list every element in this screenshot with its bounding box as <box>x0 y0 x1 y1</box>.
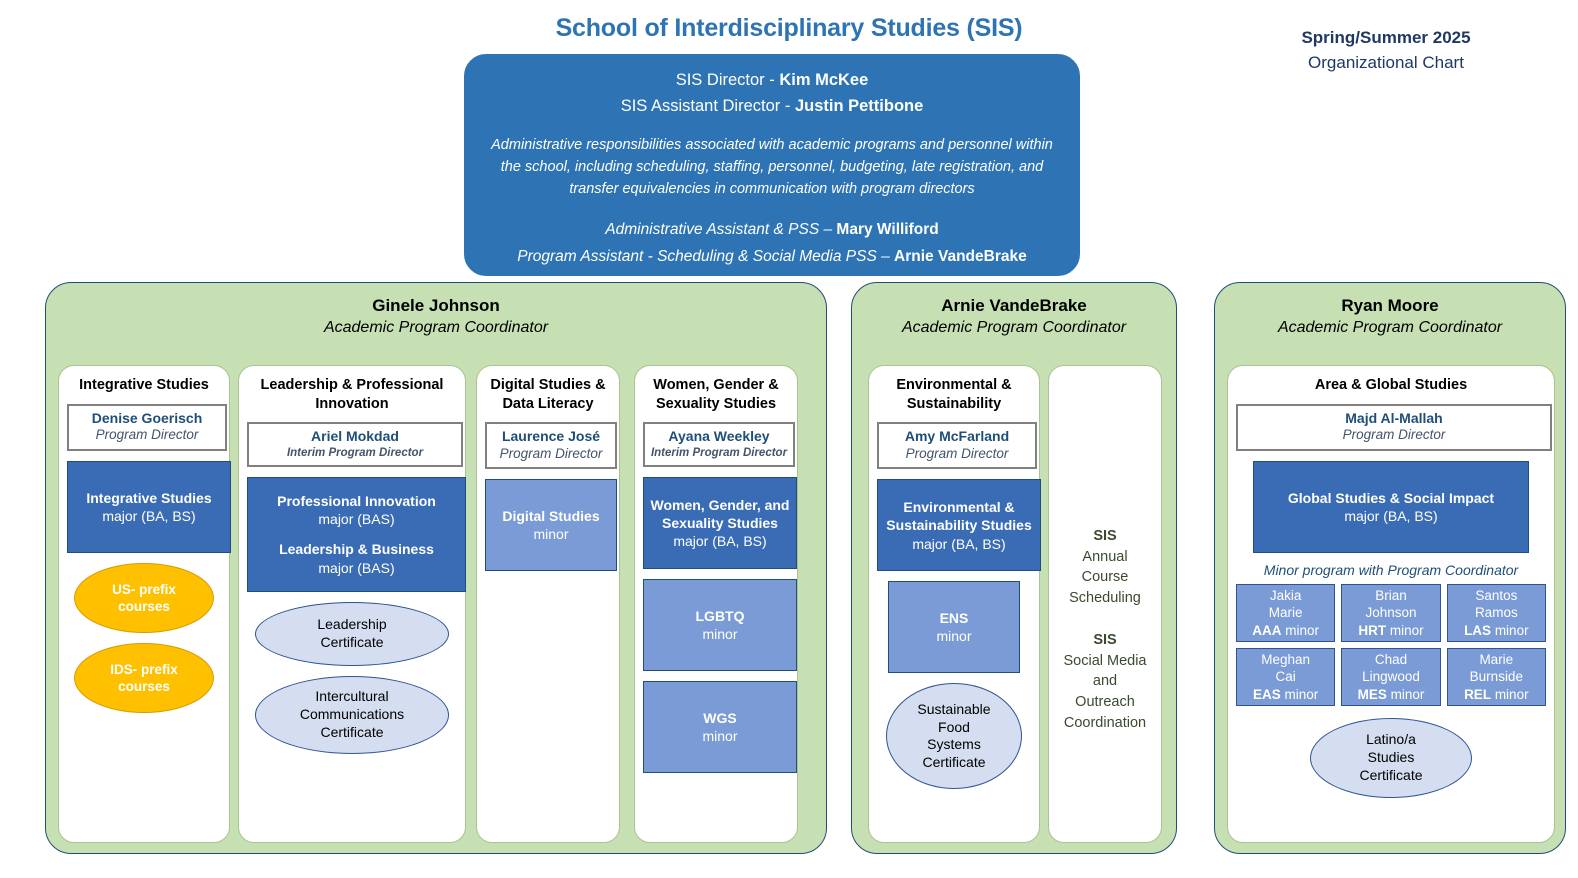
coordinator-role: Academic Program Coordinator <box>852 317 1176 338</box>
oval-line: IDS- prefix <box>110 661 178 678</box>
oval-line: Intercultural <box>315 688 388 706</box>
minor-coordinator-name-2: Marie <box>1269 604 1303 621</box>
program-assistant-name: Arnie VandeBrake <box>894 248 1027 265</box>
minor-code: AAA <box>1252 623 1281 638</box>
sis-duty-line: Social Media <box>1057 651 1153 672</box>
oval-line: courses <box>118 678 170 695</box>
program-box-degree-secondary: major (BAS) <box>318 559 394 577</box>
certificate-oval: SustainableFoodSystemsCertificate <box>886 683 1022 789</box>
minor-program-box: ENSminor <box>888 581 1020 673</box>
certificate-oval: InterculturalCommunicationsCertificate <box>255 676 449 754</box>
program-column: SISAnnualCourseSchedulingSISSocial Media… <box>1048 365 1162 843</box>
program-column-title: Integrative Studies <box>67 376 221 395</box>
minor-code-line: LAS minor <box>1464 622 1529 639</box>
program-column: Area & Global StudiesMajd Al-MallahProgr… <box>1227 365 1555 843</box>
program-director-box: Majd Al-MallahProgram Director <box>1236 404 1552 451</box>
minor-program-box: Digital Studiesminor <box>485 479 617 571</box>
sis-duty-heading: SIS <box>1057 630 1153 651</box>
minor-coordinator-name-2: Ramos <box>1475 604 1518 621</box>
oval-line: Communications <box>300 706 404 724</box>
oval-line: courses <box>118 598 170 615</box>
program-box-degree: minor <box>702 625 737 643</box>
program-director-box: Laurence JoséProgram Director <box>485 422 617 469</box>
course-prefix-oval: US- prefixcourses <box>74 563 214 633</box>
coordinator-container: Arnie VandeBrakeAcademic Program Coordin… <box>851 282 1177 854</box>
program-column: Integrative StudiesDenise GoerischProgra… <box>58 365 230 843</box>
program-director-name: Denise Goerisch <box>73 410 221 428</box>
program-director-name: Amy McFarland <box>883 428 1031 446</box>
director-name: Kim McKee <box>779 71 868 89</box>
minor-program-cell: BrianJohnsonHRT minor <box>1341 584 1440 642</box>
minor-code-line: MES minor <box>1358 686 1425 703</box>
coordinator-container: Ryan MooreAcademic Program CoordinatorAr… <box>1214 282 1566 854</box>
coordinator-header: Ginele JohnsonAcademic Program Coordinat… <box>46 295 826 339</box>
program-assistant-label: Program Assistant - Scheduling & Social … <box>517 248 894 265</box>
minor-coordinator-name: Meghan <box>1261 651 1310 668</box>
admin-assistant-line: Administrative Assistant & PSS – Mary Wi… <box>482 218 1062 243</box>
program-director-role: Program Director <box>73 427 221 444</box>
minor-code-line: REL minor <box>1464 686 1529 703</box>
major-program-box: Women, Gender, and Sexuality Studiesmajo… <box>643 477 797 569</box>
major-program-box: Professional Innovationmajor (BAS)Leader… <box>247 477 466 592</box>
program-box-degree: minor <box>702 727 737 745</box>
program-column-title: Environmental & Sustainability <box>877 376 1031 413</box>
oval-line: Certificate <box>320 634 383 652</box>
program-box-degree: major (BA, BS) <box>912 535 1005 553</box>
program-director-name: Ayana Weekley <box>649 428 789 446</box>
responsibilities-text: Administrative responsibilities associat… <box>482 135 1062 200</box>
minor-code-line: AAA minor <box>1252 622 1319 639</box>
minor-coordinator-name: Santos <box>1475 587 1517 604</box>
program-column-title: Area & Global Studies <box>1236 376 1546 395</box>
coordinator-header: Ryan MooreAcademic Program Coordinator <box>1215 295 1565 339</box>
admin-assistant-label: Administrative Assistant & PSS – <box>605 221 836 238</box>
director-banner: SIS Director - Kim McKee SIS Assistant D… <box>464 54 1080 276</box>
certificate-oval: LeadershipCertificate <box>255 602 449 666</box>
program-box-title: LGBTQ <box>696 607 745 625</box>
coordinator-container: Ginele JohnsonAcademic Program Coordinat… <box>45 282 827 854</box>
term-and-doctype: Spring/Summer 2025 Organizational Chart <box>1236 26 1536 75</box>
program-box-degree: major (BA, BS) <box>673 532 766 550</box>
oval-line: Latino/a <box>1366 731 1416 749</box>
term-label: Spring/Summer 2025 <box>1236 26 1536 51</box>
minor-program-grid: JakiaMarieAAA minorBrianJohnsonHRT minor… <box>1236 584 1546 706</box>
program-director-role: Interim Program Director <box>253 446 457 460</box>
minor-code: MES <box>1358 687 1387 702</box>
coordinator-name: Ryan Moore <box>1215 295 1565 317</box>
assistant-director-label: SIS Assistant Director - <box>621 97 795 115</box>
oval-line: Leadership <box>317 616 386 634</box>
program-director-role: Program Director <box>883 446 1031 463</box>
program-box-degree: minor <box>936 627 971 645</box>
program-box-title: WGS <box>703 709 736 727</box>
minor-program-box: WGSminor <box>643 681 797 773</box>
program-box-degree: major (BA, BS) <box>102 507 195 525</box>
sis-duties-text: SISAnnualCourseSchedulingSISSocial Media… <box>1057 526 1153 733</box>
program-director-name: Majd Al-Mallah <box>1242 410 1546 428</box>
minor-program-cell: MarieBurnsideREL minor <box>1447 648 1546 706</box>
program-column: Digital Studies & Data LiteracyLaurence … <box>476 365 620 843</box>
minor-code-line: HRT minor <box>1358 622 1423 639</box>
minor-code: HRT <box>1358 623 1386 638</box>
minor-program-cell: MeghanCaiEAS minor <box>1236 648 1335 706</box>
program-director-box: Denise GoerischProgram Director <box>67 404 227 451</box>
program-column: Women, Gender & Sexuality StudiesAyana W… <box>634 365 798 843</box>
minor-coordinator-name: Jakia <box>1270 587 1302 604</box>
sis-duty-line: Outreach <box>1057 692 1153 713</box>
program-column: Environmental & SustainabilityAmy McFarl… <box>868 365 1040 843</box>
minor-program-box: LGBTQminor <box>643 579 797 671</box>
program-director-box: Amy McFarlandProgram Director <box>877 422 1037 469</box>
coordinator-role: Academic Program Coordinator <box>46 317 826 338</box>
minor-coordinator-name: Chad <box>1375 651 1407 668</box>
sis-duty-line: and <box>1057 671 1153 692</box>
major-program-box: Global Studies & Social Impactmajor (BA,… <box>1253 461 1529 553</box>
program-director-role: Interim Program Director <box>649 446 789 460</box>
minor-program-cell: JakiaMarieAAA minor <box>1236 584 1335 642</box>
minor-code: REL <box>1464 687 1491 702</box>
program-box-title: Environmental & Sustainability Studies <box>884 498 1034 534</box>
oval-line: US- prefix <box>112 581 176 598</box>
sis-duty-line: Coordination <box>1057 713 1153 734</box>
program-assistant-line: Program Assistant - Scheduling & Social … <box>482 245 1062 270</box>
certificate-oval: Latino/aStudiesCertificate <box>1310 718 1472 798</box>
program-box-title: Digital Studies <box>502 507 599 525</box>
minor-program-cell: ChadLingwoodMES minor <box>1341 648 1440 706</box>
admin-assistant-name: Mary Williford <box>836 221 938 238</box>
sis-duty-heading: SIS <box>1057 526 1153 547</box>
program-director-role: Program Director <box>491 446 611 463</box>
coordinator-role: Academic Program Coordinator <box>1215 317 1565 338</box>
program-box-degree: minor <box>533 525 568 543</box>
program-director-name: Laurence José <box>491 428 611 446</box>
minor-coordinator-name-2: Lingwood <box>1362 668 1420 685</box>
oval-line: Certificate <box>320 724 383 742</box>
program-box-title: Global Studies & Social Impact <box>1288 489 1494 507</box>
director-label: SIS Director - <box>676 71 780 89</box>
doctype-label: Organizational Chart <box>1236 51 1536 76</box>
minor-program-cell: SantosRamosLAS minor <box>1447 584 1546 642</box>
program-column: Leadership & Professional InnovationArie… <box>238 365 466 843</box>
oval-line: Systems <box>927 736 981 754</box>
sis-duty-line: Scheduling <box>1057 588 1153 609</box>
minor-coordinator-name: Brian <box>1375 587 1407 604</box>
major-program-box: Environmental & Sustainability Studiesma… <box>877 479 1041 571</box>
program-box-title: Professional Innovation <box>277 492 436 510</box>
oval-line: Food <box>938 719 970 737</box>
minor-coordinator-name-2: Burnside <box>1470 668 1523 685</box>
oval-line: Certificate <box>922 754 985 772</box>
minor-coordinator-name-2: Cai <box>1276 668 1296 685</box>
major-program-box: Integrative Studiesmajor (BA, BS) <box>67 461 231 553</box>
sis-duty-line: Course <box>1057 567 1153 588</box>
coordinator-header: Arnie VandeBrakeAcademic Program Coordin… <box>852 295 1176 339</box>
program-column-title: Women, Gender & Sexuality Studies <box>643 376 789 413</box>
program-director-box: Ayana WeekleyInterim Program Director <box>643 422 795 467</box>
coordinator-name: Arnie VandeBrake <box>852 295 1176 317</box>
minor-code: LAS <box>1464 623 1491 638</box>
program-box-degree: major (BA, BS) <box>1344 507 1437 525</box>
coordinator-name: Ginele Johnson <box>46 295 826 317</box>
minor-coordinator-name: Marie <box>1479 651 1513 668</box>
program-column-title: Leadership & Professional Innovation <box>247 376 457 413</box>
minor-code: EAS <box>1253 687 1281 702</box>
program-director-name: Ariel Mokdad <box>253 428 457 446</box>
program-box-title-secondary: Leadership & Business <box>279 540 434 558</box>
minor-code-line: EAS minor <box>1253 686 1318 703</box>
sis-duty-line: Annual <box>1057 547 1153 568</box>
oval-line: Studies <box>1368 749 1415 767</box>
minor-coordinator-name-2: Johnson <box>1365 604 1416 621</box>
program-box-title: Women, Gender, and Sexuality Studies <box>650 496 790 532</box>
assistant-director-line: SIS Assistant Director - Justin Pettibon… <box>482 94 1062 120</box>
course-prefix-oval: IDS- prefixcourses <box>74 643 214 713</box>
program-box-title: ENS <box>940 609 969 627</box>
program-director-box: Ariel MokdadInterim Program Director <box>247 422 463 467</box>
program-director-role: Program Director <box>1242 427 1546 444</box>
program-column-title: Digital Studies & Data Literacy <box>485 376 611 413</box>
program-box-degree: major (BAS) <box>318 510 394 528</box>
oval-line: Sustainable <box>917 701 990 719</box>
director-line: SIS Director - Kim McKee <box>482 68 1062 94</box>
assistant-director-name: Justin Pettibone <box>795 97 923 115</box>
oval-line: Certificate <box>1359 767 1422 785</box>
program-box-title: Integrative Studies <box>86 489 211 507</box>
minor-program-note: Minor program with Program Coordinator <box>1236 562 1546 578</box>
